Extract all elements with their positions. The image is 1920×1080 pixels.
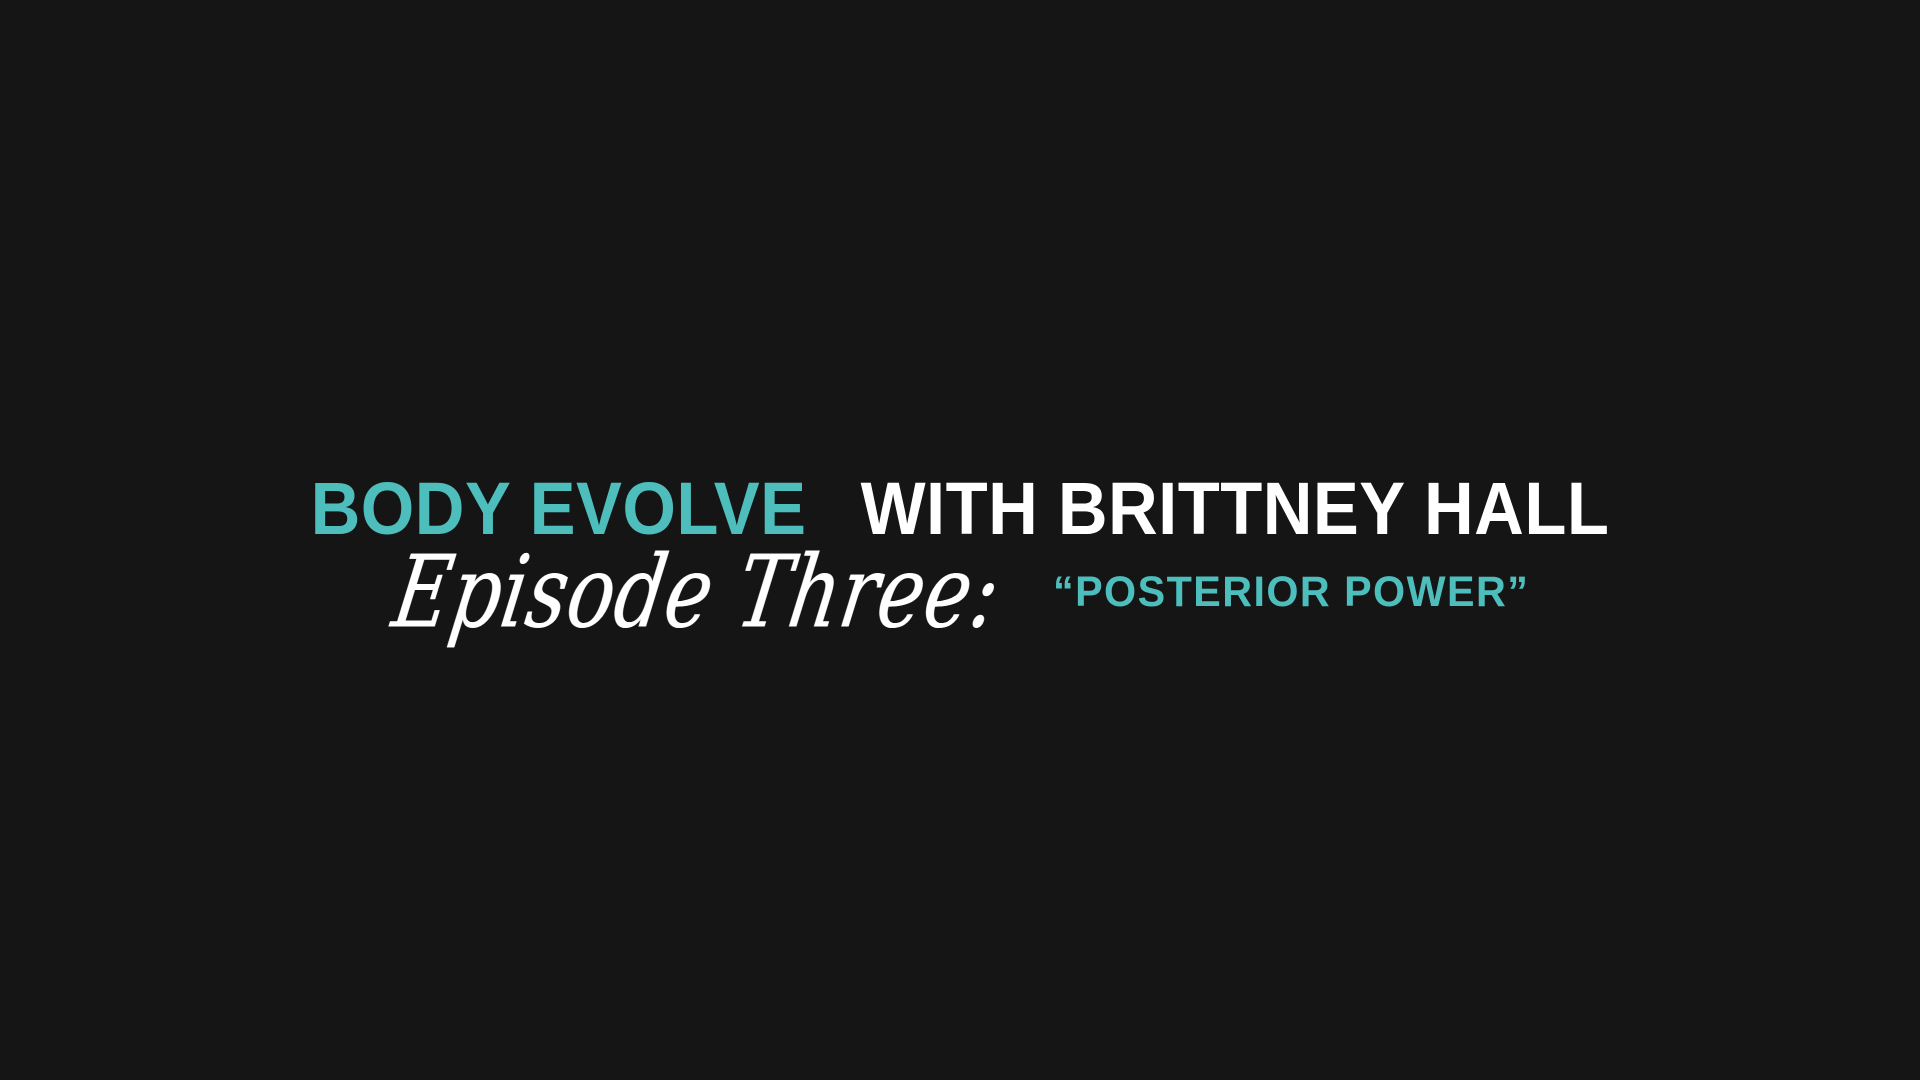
episode-subtitle: “POSTERIOR POWER” <box>1053 571 1529 614</box>
episode-script-label: Episode Three: <box>387 544 1007 644</box>
title-block: BODY EVOLVE WITH BRITTNEY HALL Episode T… <box>0 0 1920 1080</box>
episode-row: Episode Three: “POSTERIOR POWER” <box>0 552 1920 702</box>
title-card-canvas: BODY EVOLVE WITH BRITTNEY HALL Episode T… <box>0 0 1920 1080</box>
